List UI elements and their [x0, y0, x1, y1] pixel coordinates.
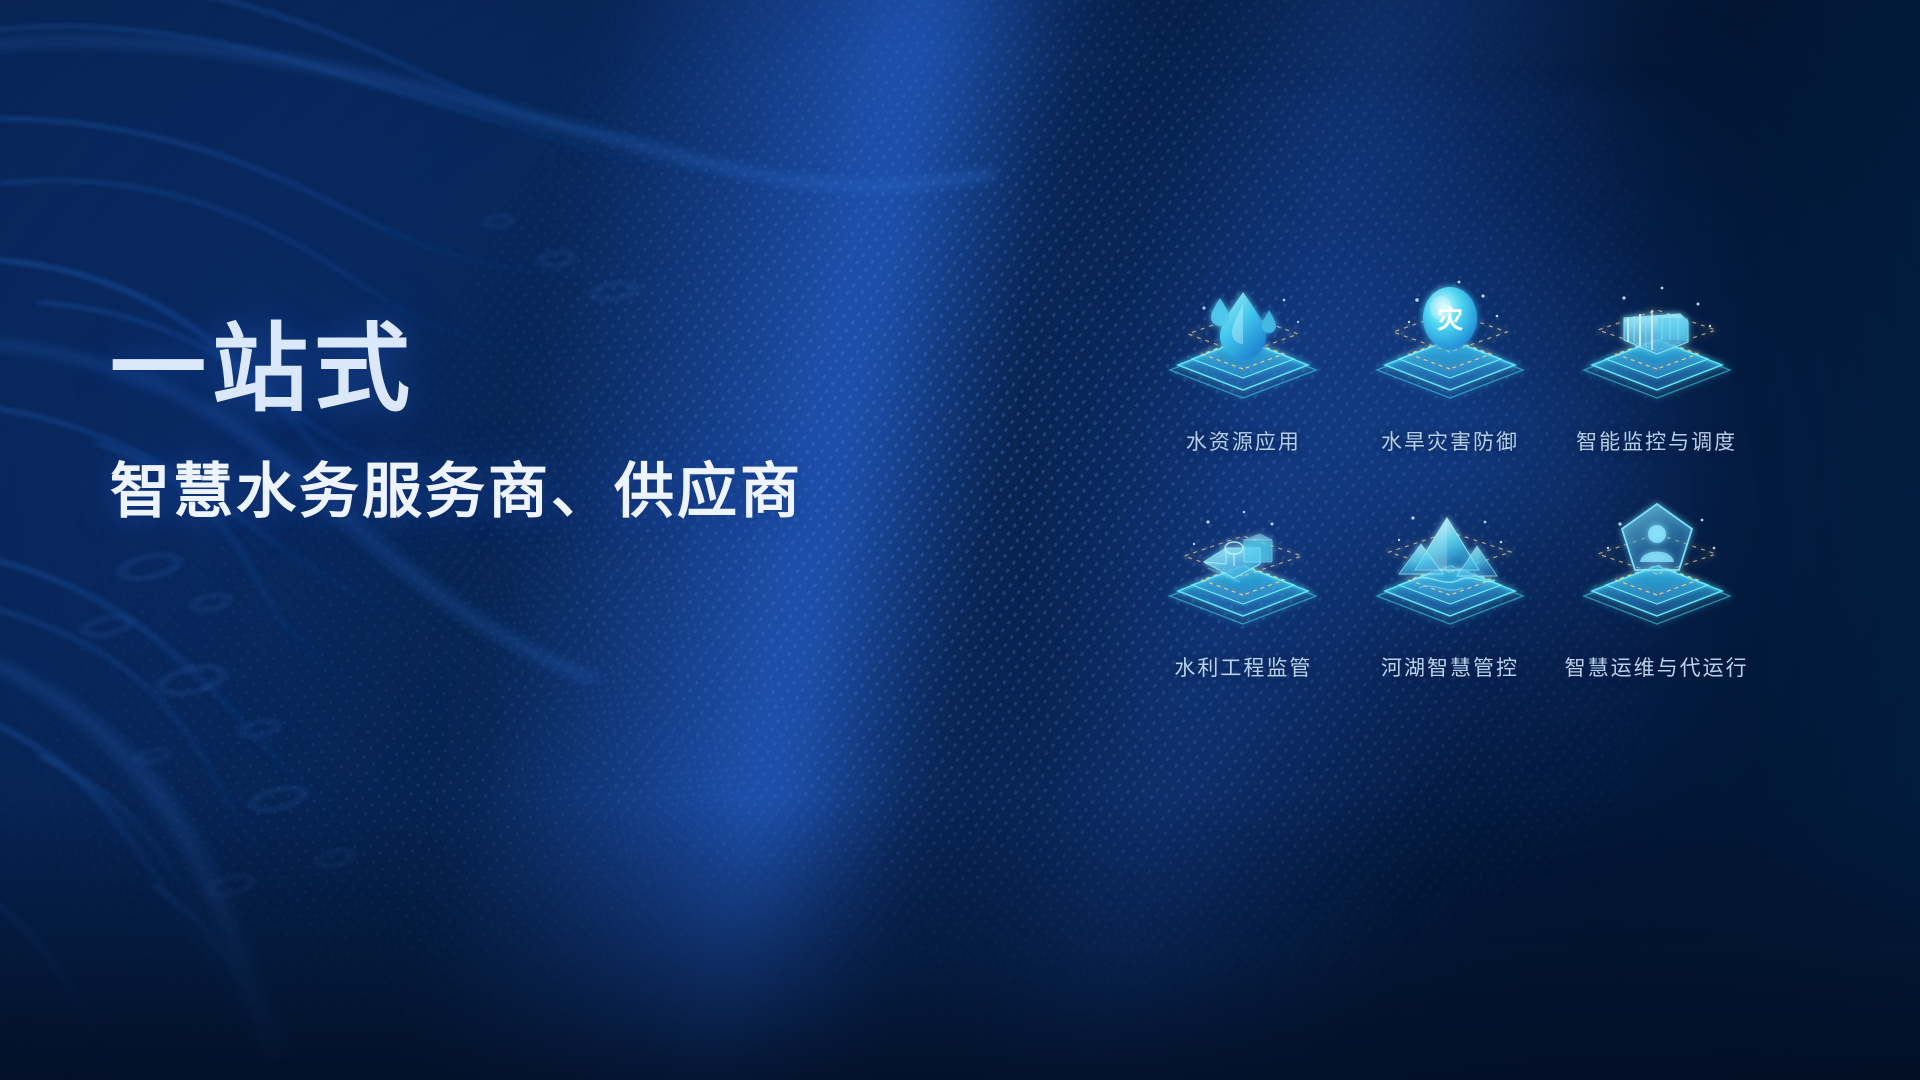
monitoring-dam-icon	[1562, 270, 1752, 420]
feature-item-river-lake[interactable]: 河湖智慧管控	[1347, 496, 1554, 722]
river-lake-icon	[1355, 496, 1545, 646]
feature-label: 智慧运维与代运行	[1565, 652, 1749, 682]
headline-primary: 一站式	[110, 318, 803, 422]
feature-item-water-resource[interactable]: 水资源应用	[1140, 270, 1347, 496]
disaster-badge-text: 灾	[1437, 304, 1463, 334]
feature-item-smart-ops[interactable]: 智慧运维与代运行	[1553, 496, 1760, 722]
headline-block: 一站式 智慧水务服务商、供应商	[110, 318, 803, 528]
feature-grid: 水资源应用	[1140, 270, 1760, 722]
feature-label: 水资源应用	[1186, 426, 1301, 456]
shield-person-icon	[1562, 496, 1752, 646]
feature-label: 水利工程监管	[1174, 652, 1312, 682]
disaster-sphere-icon: 灾	[1355, 270, 1545, 420]
feature-label: 河湖智慧管控	[1381, 652, 1519, 682]
feature-label: 智能监控与调度	[1576, 426, 1737, 456]
headline-secondary: 智慧水务服务商、供应商	[110, 456, 803, 528]
feature-item-smart-monitoring[interactable]: 智能监控与调度	[1553, 270, 1760, 496]
water-drop-icon	[1148, 270, 1338, 420]
hydro-engineering-icon	[1148, 496, 1338, 646]
feature-item-flood-drought[interactable]: 灾 水旱灾害防御	[1347, 270, 1554, 496]
feature-label: 水旱灾害防御	[1381, 426, 1519, 456]
feature-item-hydro-engineering[interactable]: 水利工程监管	[1140, 496, 1347, 722]
